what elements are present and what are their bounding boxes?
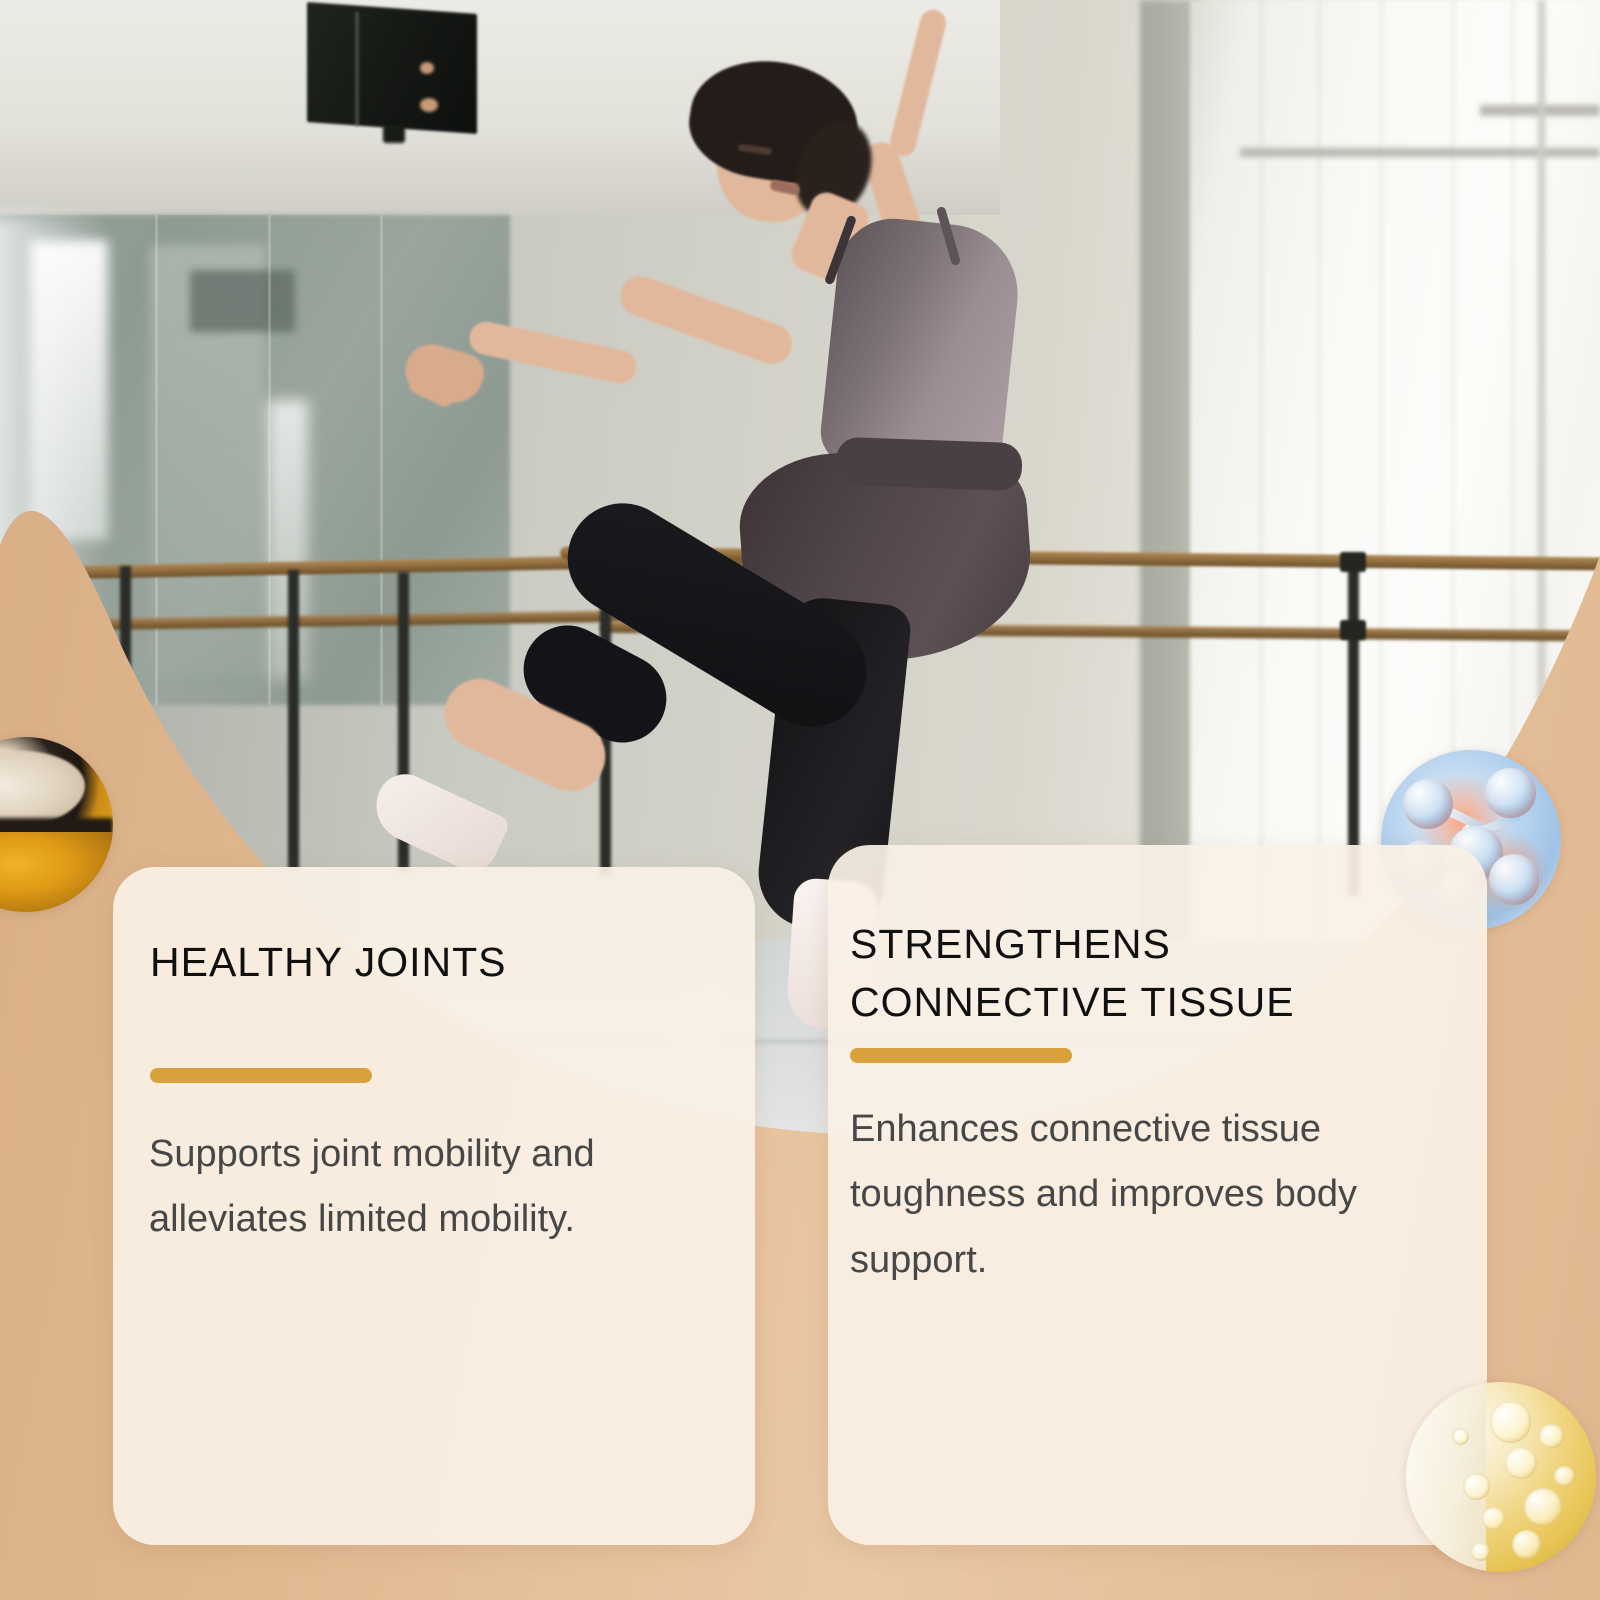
- ginger-root-shape: [0, 751, 85, 828]
- oil-bubbles-icon: [1406, 1382, 1596, 1572]
- molecule-atom-2: [1485, 768, 1535, 818]
- oil-bubble-6: [1482, 1507, 1505, 1530]
- oil-bubble-5: [1524, 1488, 1562, 1526]
- dancer-skirt-waistband: [835, 437, 1023, 491]
- card-1-body: Supports joint mobility and alleviates l…: [149, 1122, 709, 1253]
- card-1-title: HEALTHY JOINTS: [150, 933, 507, 991]
- card-1-inner: HEALTHY JOINTS Supports joint mobility a…: [113, 867, 755, 1545]
- infographic-stage: HEALTHY JOINTS Supports joint mobility a…: [0, 0, 1600, 1600]
- oil-bubble-2: [1539, 1424, 1564, 1449]
- oil-bubble-4: [1463, 1473, 1490, 1500]
- molecule-atom-4: [1489, 854, 1539, 904]
- card-2-title: STRENGTHENS CONNECTIVE TISSUE: [850, 915, 1295, 1031]
- card-2-accent-bar: [850, 1048, 1072, 1063]
- oil-bubble-10: [1471, 1542, 1490, 1561]
- turmeric-powder-shape: [0, 832, 113, 913]
- dancer-forearm-up: [887, 7, 949, 159]
- oil-bubble-9: [1512, 1530, 1541, 1559]
- card-1-accent-bar: [150, 1068, 372, 1083]
- card-2-inner: STRENGTHENS CONNECTIVE TISSUE Enhances c…: [828, 845, 1487, 1545]
- dancer-upperarm-left: [615, 270, 798, 369]
- card-2-body: Enhances connective tissue toughness and…: [850, 1097, 1450, 1293]
- benefit-card-connective-tissue[interactable]: STRENGTHENS CONNECTIVE TISSUE Enhances c…: [828, 845, 1487, 1545]
- molecule-atom-1: [1403, 779, 1453, 829]
- dancer-pointe-shoe-extended: [365, 765, 512, 879]
- dancer-forearm-left: [466, 319, 639, 387]
- oil-bubble-3: [1505, 1447, 1537, 1479]
- oil-bubble-1: [1490, 1401, 1532, 1443]
- oil-bubble-7: [1554, 1466, 1575, 1487]
- oil-bubble-8: [1452, 1428, 1469, 1445]
- benefit-card-healthy-joints[interactable]: HEALTHY JOINTS Supports joint mobility a…: [113, 867, 755, 1545]
